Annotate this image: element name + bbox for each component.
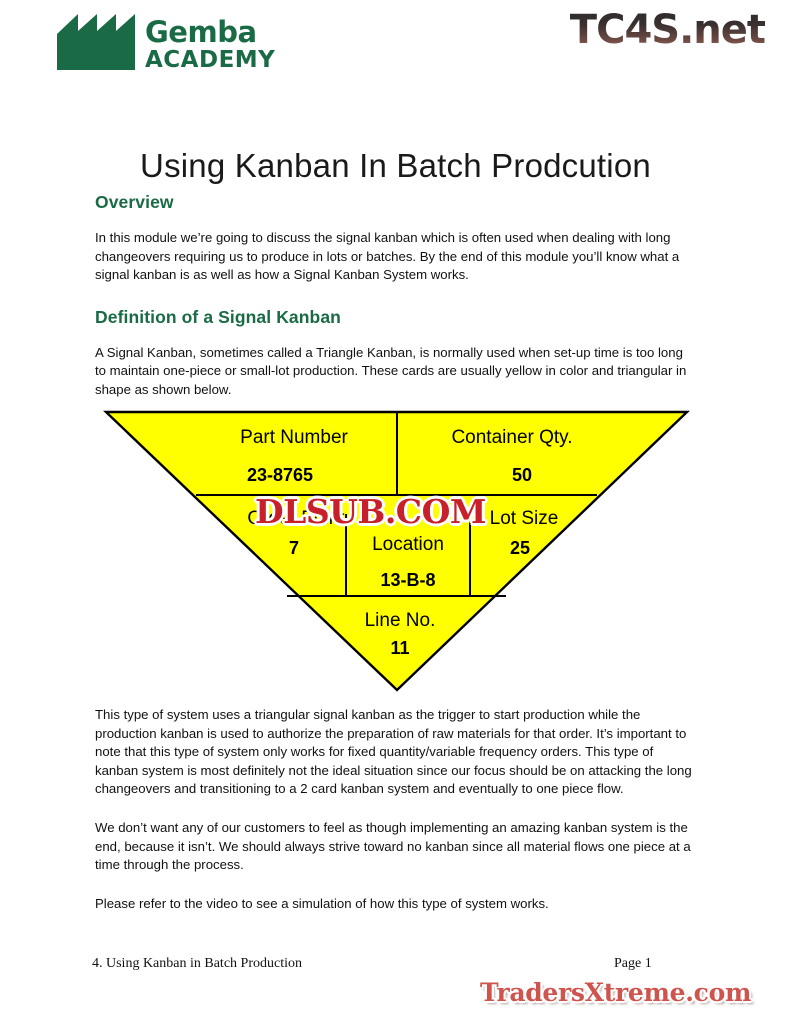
page-footer: 4. Using Kanban in Batch Production Page… [0,946,791,1024]
field-label-lot-size: Lot Size [490,508,559,529]
field-value-location: 13-B-8 [380,570,435,590]
field-value-part-number: 23-8765 [247,465,313,485]
field-label-container-qty: Container Qty. [451,427,572,448]
gemba-academy-logo: Gemba ACADEMY [57,14,275,75]
definition-heading: Definition of a Signal Kanban [95,307,697,328]
logo-gemba-text: Gemba [145,18,275,47]
body-paragraph-1: This type of system uses a triangular si… [95,706,699,799]
tradersxtreme-watermark: TradersXtreme.com [480,978,751,1007]
page-title: Using Kanban In Batch Prodcution [0,147,791,185]
field-label-location: Location [372,534,444,555]
page-header: Gemba ACADEMY TC4S.net [0,0,791,100]
definition-paragraph: A Signal Kanban, sometimes called a Tria… [95,344,697,400]
factory-icon [57,14,135,75]
document-body-lower: This type of system uses a triangular si… [95,706,699,927]
body-paragraph-2: We don’t want any of our customers to fe… [95,819,699,875]
logo-wordmark: Gemba ACADEMY [145,18,275,72]
field-label-line-no: Line No. [365,610,436,631]
footer-document-name: 4. Using Kanban in Batch Production [92,956,302,972]
dlsub-watermark: DLSUB.COM [255,492,486,531]
signal-kanban-card-diagram: Part Number 23-8765 Container Qty. 50 Or… [100,404,700,700]
overview-section: Overview In this module we’re going to d… [95,192,697,285]
footer-page-number: Page 1 [614,956,652,972]
field-value-lot-size: 25 [510,538,530,558]
definition-section: Definition of a Signal Kanban A Signal K… [95,307,697,400]
field-value-line-no: 11 [390,638,409,658]
tc4s-watermark: TC4S.net [570,7,765,53]
document-body-upper: Overview In this module we’re going to d… [95,192,697,414]
field-value-order-point: 7 [289,538,299,558]
body-paragraph-3: Please refer to the video to see a simul… [95,895,699,914]
field-label-part-number: Part Number [240,427,348,448]
logo-academy-text: ACADEMY [145,49,275,72]
dlsub-watermark-text: DLSUB.COM [255,492,486,531]
field-value-container-qty: 50 [512,465,532,485]
overview-paragraph: In this module we’re going to discuss th… [95,229,697,285]
overview-heading: Overview [95,192,697,213]
